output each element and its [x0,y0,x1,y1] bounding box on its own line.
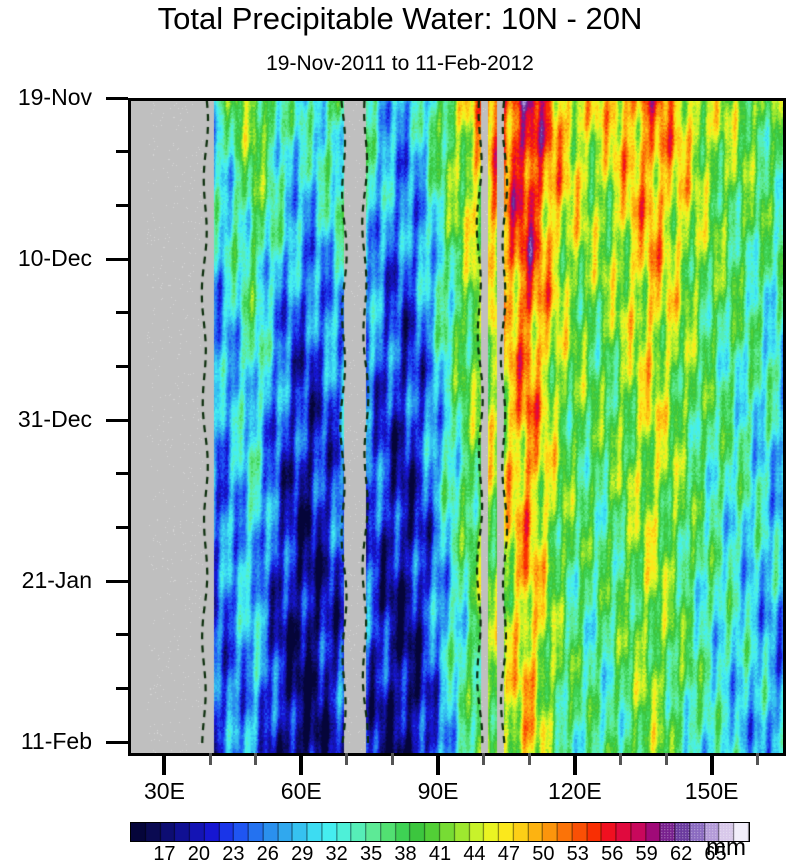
precipitable-water-heatmap [131,101,783,753]
y-tick-minor [116,472,128,475]
x-tick-label: 60E [241,780,361,803]
y-tick-label: 19-Nov [0,86,92,109]
colorbar-units-label: mm [706,836,746,860]
y-tick-minor [116,365,128,368]
y-tick-major [106,258,128,261]
y-tick-major [106,741,128,744]
y-tick-major [106,580,128,583]
x-tick-label: 30E [104,780,224,803]
y-tick-label: 21-Jan [0,569,92,592]
x-tick-minor [345,753,348,765]
hovmoller-plot-area [128,98,786,756]
y-tick-major [106,419,128,422]
x-tick-label: 150E [652,780,772,803]
x-tick-minor [209,753,212,765]
colorbar [130,822,750,842]
chart-subtitle: 19-Nov-2011 to 11-Feb-2012 [0,52,800,76]
colorbar-swatches [130,822,750,842]
x-tick-minor [756,753,759,765]
x-tick-minor [528,753,531,765]
y-tick-minor [116,204,128,207]
y-tick-minor [116,311,128,314]
x-tick-major [710,753,714,775]
x-tick-major [162,753,166,775]
y-tick-minor [116,687,128,690]
y-tick-label: 31-Dec [0,408,92,431]
x-tick-minor [254,753,257,765]
x-tick-major [436,753,440,775]
x-tick-major [299,753,303,775]
y-tick-minor [116,633,128,636]
x-tick-label: 120E [515,780,635,803]
x-tick-minor [482,753,485,765]
x-tick-major [573,753,577,775]
y-tick-minor [116,150,128,153]
y-tick-label: 10-Dec [0,247,92,270]
x-tick-minor [619,753,622,765]
x-tick-label: 90E [378,780,498,803]
x-tick-minor [665,753,668,765]
x-tick-minor [391,753,394,765]
y-tick-label: 11-Feb [0,730,92,753]
chart-title: Total Precipitable Water: 10N - 20N [0,2,800,36]
y-tick-major [106,97,128,100]
y-tick-minor [116,526,128,529]
